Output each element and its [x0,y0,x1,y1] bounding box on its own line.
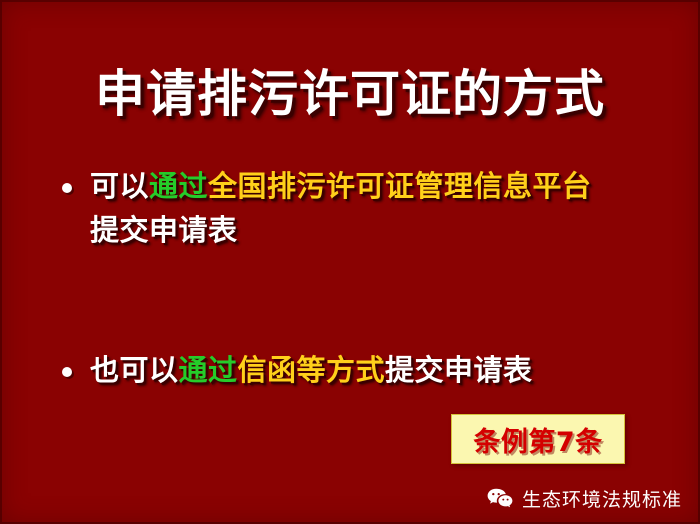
reference-badge: 条例第7条 [451,414,625,464]
bullet-1-segment-3: 全国排污许可证管理信息平台 [208,169,592,203]
bullet-2-segment-4: 提交申请表 [385,353,533,387]
slide-canvas: 申请排污许可证的方式 可以通过全国排污许可证管理信息平台 提交申请表 也可以通过… [0,0,700,524]
bullet-1-segment-1: 可以 [90,169,149,203]
bullet-marker-icon [62,367,72,377]
list-item: 也可以通过信函等方式提交申请表 [62,348,662,392]
wechat-account-name: 生态环境法规标准 [522,485,682,512]
bullet-marker-icon [62,183,72,193]
reference-badge-label: 条例第7条 [473,420,602,459]
bullet-2-segment-1: 也可以 [90,353,179,387]
bullet-2-segment-2: 通过 [179,353,238,387]
wechat-icon [487,488,513,510]
bullet-1-segment-4: 提交申请表 [90,208,662,252]
bullet-2-segment-3: 信函等方式 [238,353,386,387]
page-title: 申请排污许可证的方式 [0,64,700,124]
bullet-1-segment-2: 通过 [149,169,208,203]
footer-watermark: 生态环境法规标准 [487,485,682,512]
list-item: 可以通过全国排污许可证管理信息平台 提交申请表 [62,164,662,252]
bullet-text-2: 也可以通过信函等方式提交申请表 [90,348,662,392]
bullet-text-1: 可以通过全国排污许可证管理信息平台 提交申请表 [90,164,662,252]
bullet-list: 可以通过全国排污许可证管理信息平台 提交申请表 也可以通过信函等方式提交申请表 [62,164,662,392]
